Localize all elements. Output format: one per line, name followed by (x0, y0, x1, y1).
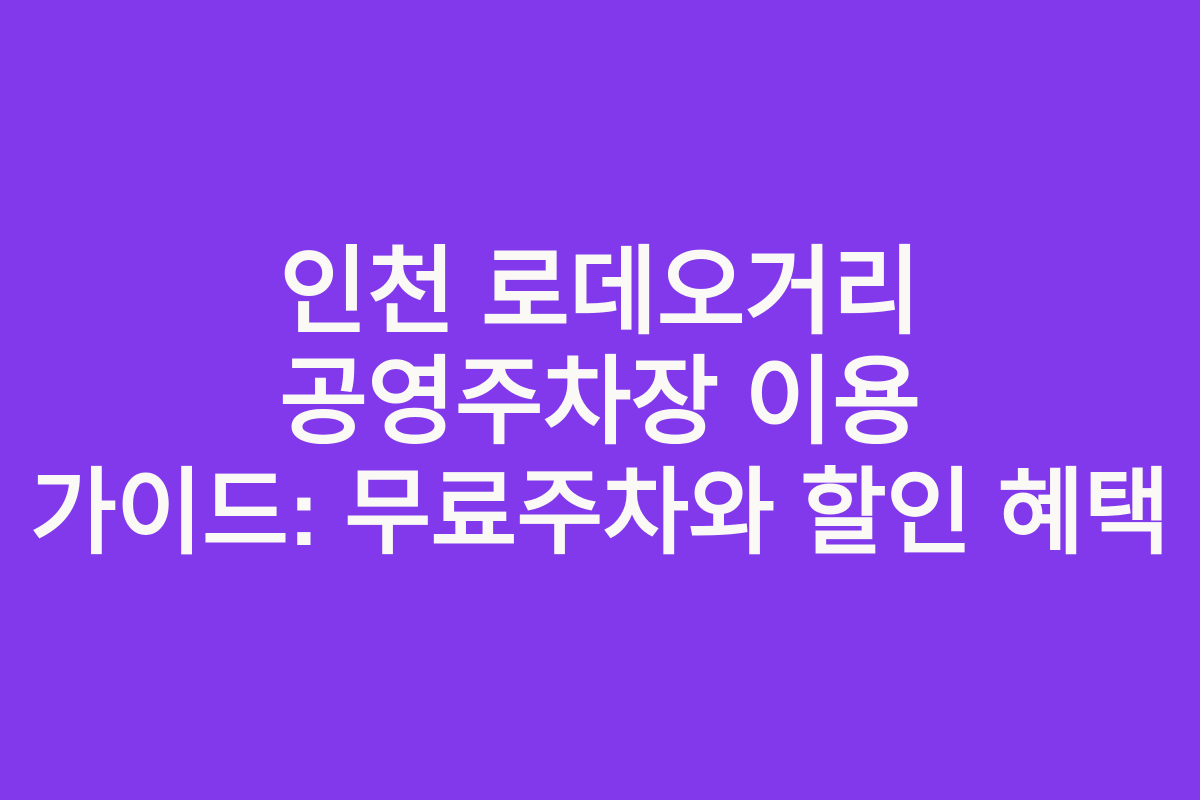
thumbnail-card: 인천 로데오거리 공영주차장 이용 가이드: 무료주차와 할인 혜택 (0, 0, 1200, 800)
page-title: 인천 로데오거리 공영주차장 이용 가이드: 무료주차와 할인 혜택 (20, 238, 1180, 568)
title-line-3: 가이드: 무료주차와 할인 혜택 (30, 458, 1169, 568)
title-line-1: 인천 로데오거리 (280, 238, 921, 348)
title-line-2: 공영주차장 이용 (280, 348, 921, 458)
